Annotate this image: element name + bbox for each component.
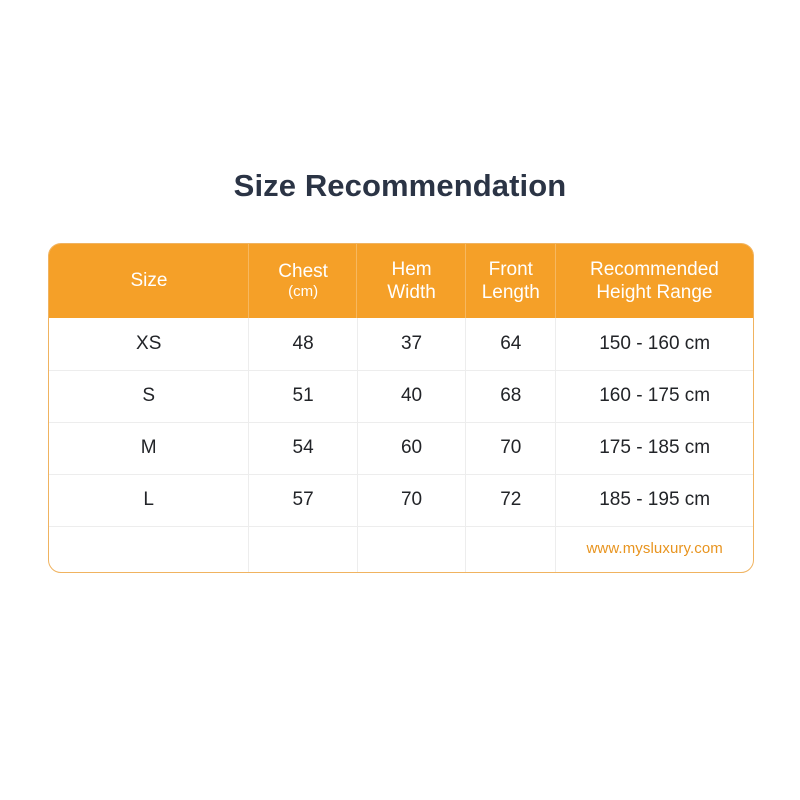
footer-cell-website: www.mysluxury.com (556, 526, 753, 572)
cell-height-range: 160 - 175 cm (556, 370, 753, 422)
table-footer: www.mysluxury.com (49, 526, 753, 572)
table-row: M 54 60 70 175 - 185 cm (49, 422, 753, 474)
cell-hem-width: 40 (357, 370, 465, 422)
column-header-front-length: Front Length (466, 244, 556, 318)
footer-cell-size (49, 526, 249, 572)
cell-hem-width: 37 (357, 318, 465, 370)
column-header-hem-width: Hem Width (357, 244, 465, 318)
table-row: S 51 40 68 160 - 175 cm (49, 370, 753, 422)
table-footer-row: www.mysluxury.com (49, 526, 753, 572)
column-header-front-length-label2: Length (470, 281, 552, 304)
column-header-size: Size (49, 244, 249, 318)
footer-cell-chest (249, 526, 357, 572)
cell-size: S (49, 370, 249, 422)
cell-size: M (49, 422, 249, 474)
cell-height-range: 175 - 185 cm (556, 422, 753, 474)
cell-hem-width: 70 (357, 474, 465, 526)
cell-front-length: 72 (466, 474, 556, 526)
table-body: XS 48 37 64 150 - 160 cm S 51 40 68 160 … (49, 318, 753, 526)
column-header-hem-width-label2: Width (361, 281, 461, 304)
cell-chest: 48 (249, 318, 357, 370)
footer-cell-front-length (466, 526, 556, 572)
cell-size: L (49, 474, 249, 526)
table-row: L 57 70 72 185 - 195 cm (49, 474, 753, 526)
page-title: Size Recommendation (0, 168, 800, 204)
column-header-chest-unit: (cm) (253, 283, 353, 302)
cell-chest: 57 (249, 474, 357, 526)
cell-chest: 54 (249, 422, 357, 474)
size-recommendation-table: Size Chest (cm) Hem Width Front Length (49, 244, 753, 572)
column-header-chest-label: Chest (253, 260, 353, 283)
cell-height-range: 150 - 160 cm (556, 318, 753, 370)
column-header-chest: Chest (cm) (249, 244, 357, 318)
column-header-front-length-label: Front (470, 258, 552, 281)
table-header-row: Size Chest (cm) Hem Width Front Length (49, 244, 753, 318)
cell-size: XS (49, 318, 249, 370)
column-header-height-range-label2: Height Range (560, 281, 749, 304)
column-header-height-range-label: Recommended (560, 258, 749, 281)
cell-chest: 51 (249, 370, 357, 422)
size-table-container: Size Chest (cm) Hem Width Front Length (48, 243, 754, 573)
table-row: XS 48 37 64 150 - 160 cm (49, 318, 753, 370)
cell-front-length: 64 (466, 318, 556, 370)
column-header-size-label: Size (53, 269, 245, 292)
cell-front-length: 70 (466, 422, 556, 474)
website-url[interactable]: www.mysluxury.com (586, 540, 722, 557)
cell-front-length: 68 (466, 370, 556, 422)
table-header: Size Chest (cm) Hem Width Front Length (49, 244, 753, 318)
column-header-height-range: Recommended Height Range (556, 244, 753, 318)
cell-hem-width: 60 (357, 422, 465, 474)
cell-height-range: 185 - 195 cm (556, 474, 753, 526)
footer-cell-hem-width (357, 526, 465, 572)
column-header-hem-width-label: Hem (361, 258, 461, 281)
size-chart-page: Size Recommendation Size Chest (cm) (0, 0, 800, 800)
